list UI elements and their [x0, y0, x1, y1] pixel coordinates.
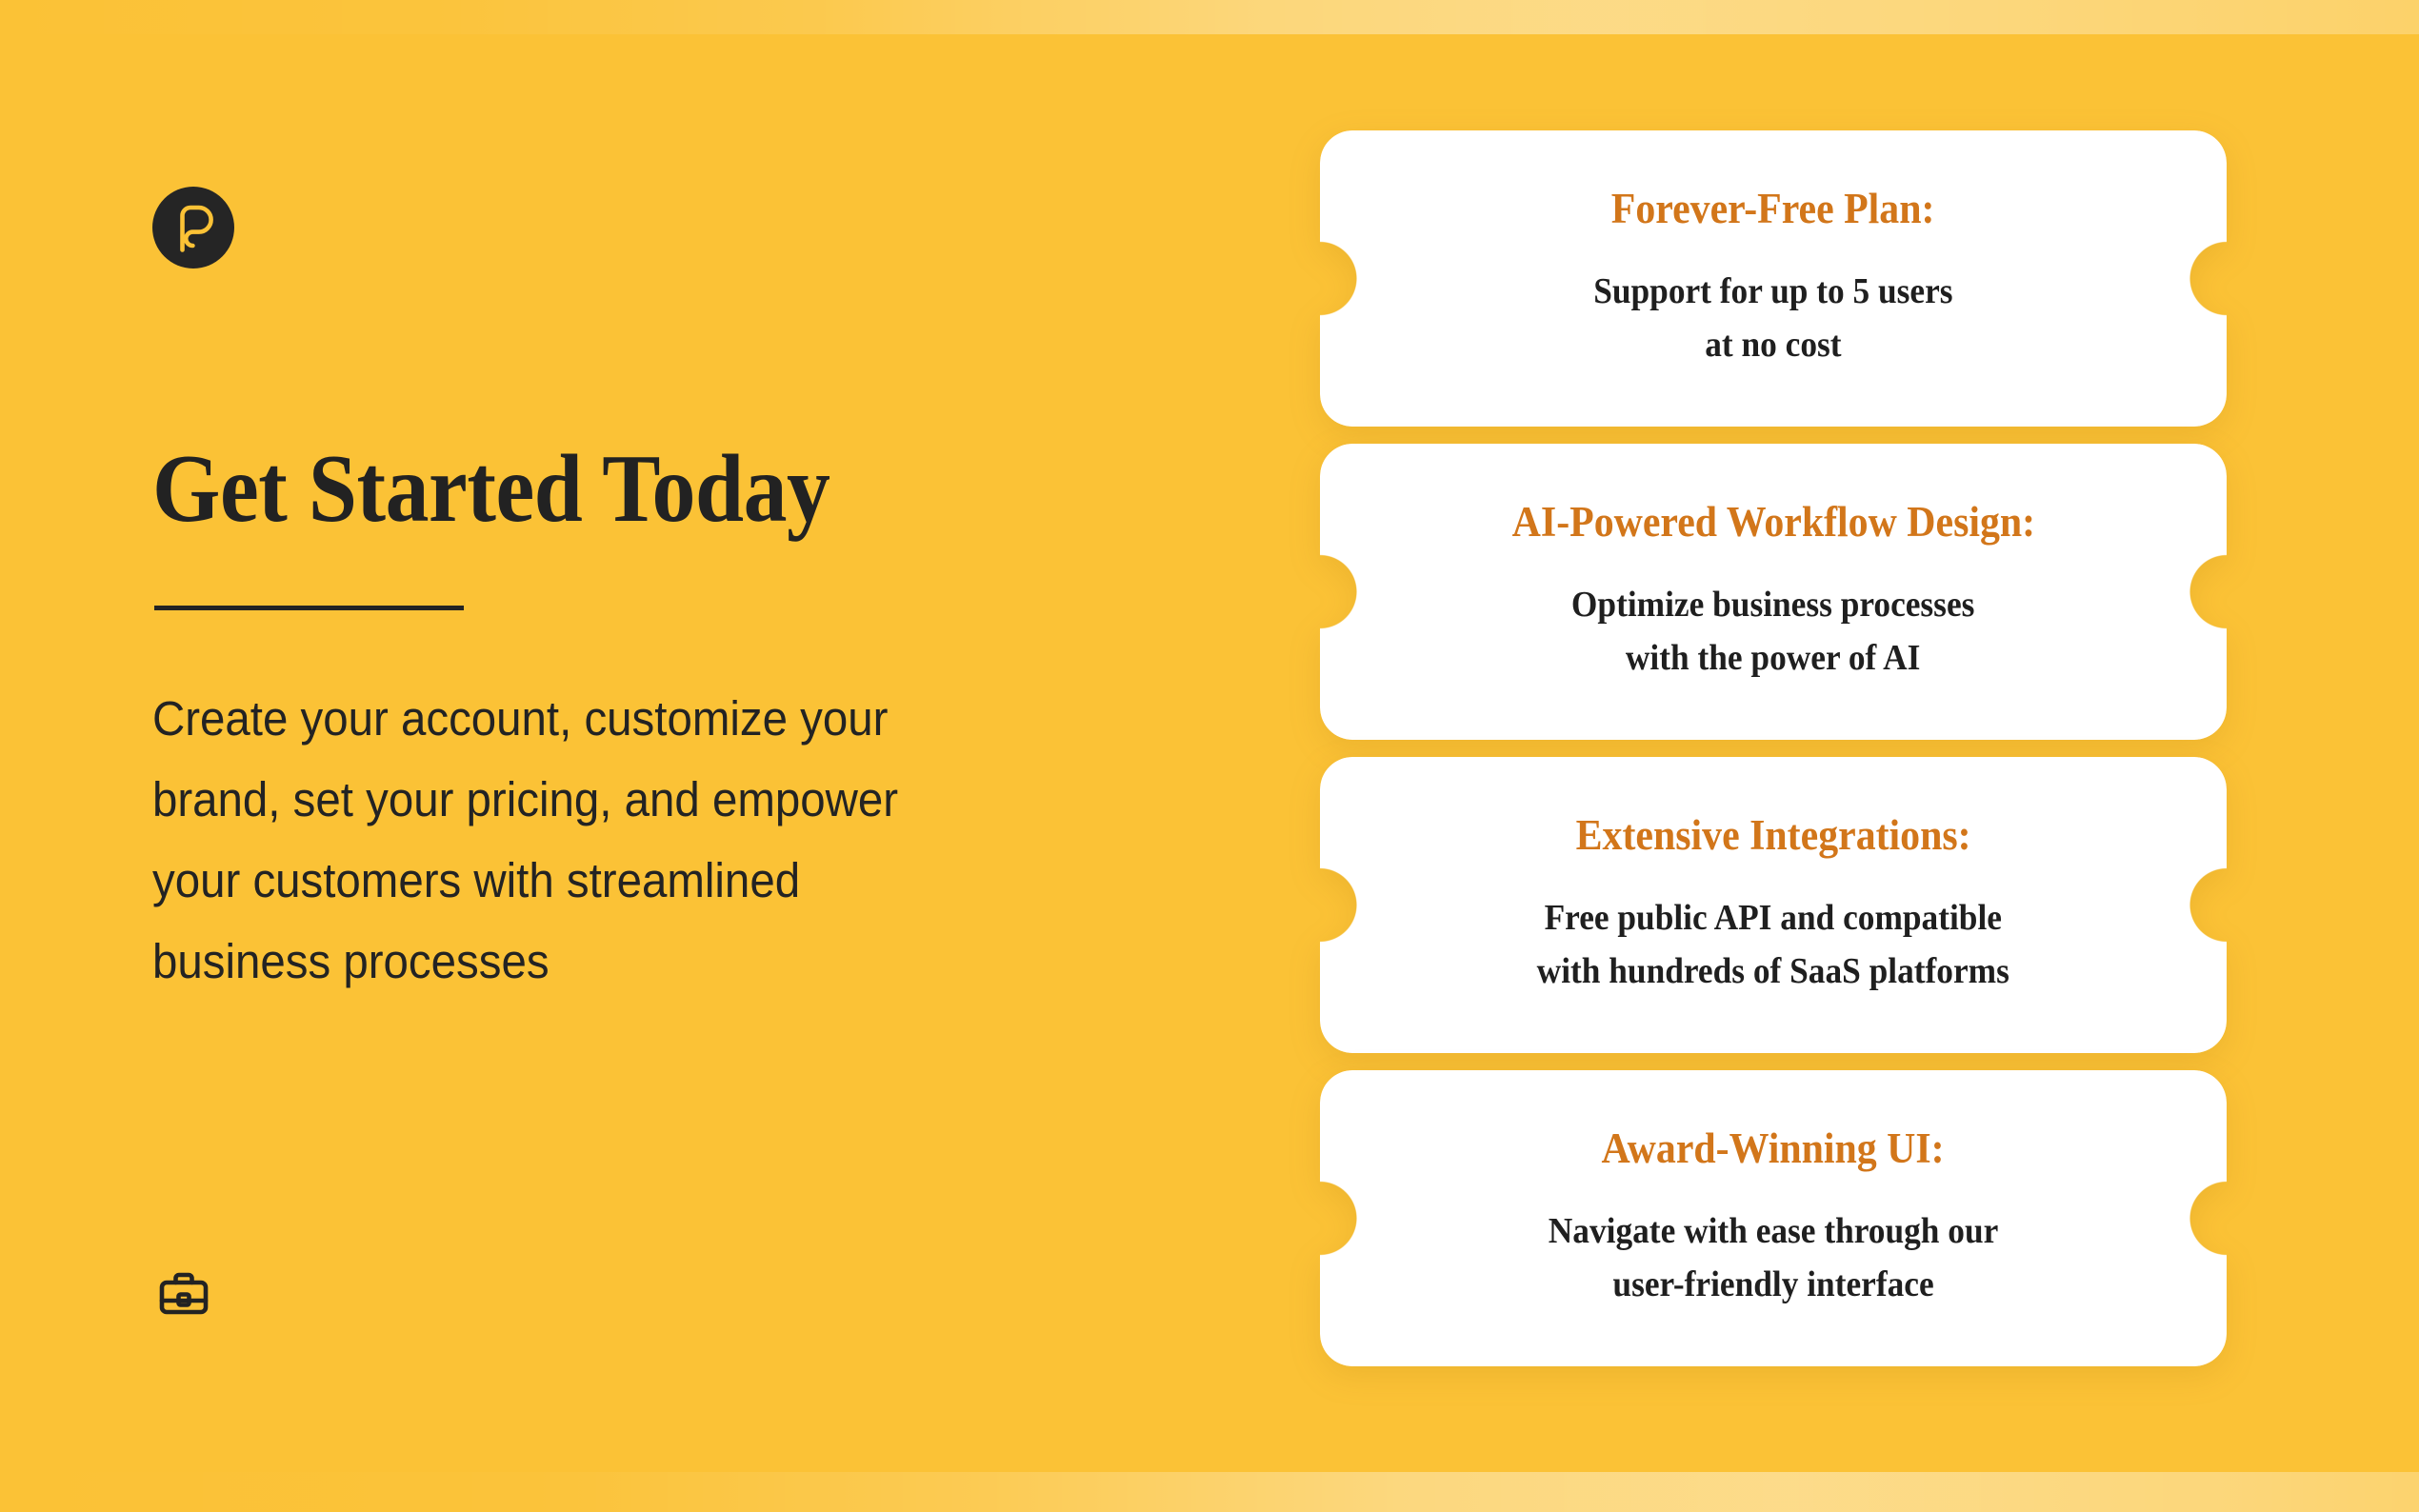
body-copy: Create your account, customize your bran…	[152, 678, 931, 1002]
feature-card-title: Extensive Integrations:	[1575, 812, 1970, 860]
feature-card-title: Forever-Free Plan:	[1611, 186, 1935, 233]
feature-card-description: Navigate with ease through our user-frie…	[1549, 1204, 1999, 1311]
feature-card-description: Optimize business processes with the pow…	[1571, 578, 1974, 685]
feature-card-content: Award-Winning UI: Navigate with ease thr…	[1320, 1070, 2227, 1366]
feature-card-description: Free public API and compatible with hund…	[1537, 891, 2009, 998]
feature-card-title: AI-Powered Workflow Design:	[1511, 499, 2034, 547]
slide-canvas: Get Started Today Create your account, c…	[0, 0, 2419, 1512]
feature-card-content: Forever-Free Plan: Support for up to 5 u…	[1320, 130, 2227, 427]
feature-card-description: Support for up to 5 users at no cost	[1593, 265, 1952, 371]
briefcase-icon	[154, 1264, 213, 1323]
feature-card-content: AI-Powered Workflow Design: Optimize bus…	[1320, 444, 2227, 740]
page-title: Get Started Today	[152, 438, 830, 540]
feature-card-content: Extensive Integrations: Free public API …	[1320, 757, 2227, 1053]
feature-card-title: Award-Winning UI:	[1602, 1125, 1945, 1173]
feature-card[interactable]: Award-Winning UI: Navigate with ease thr…	[1320, 1070, 2227, 1366]
feature-cards-list: Forever-Free Plan: Support for up to 5 u…	[1320, 130, 2227, 1366]
left-content-column: Get Started Today Create your account, c…	[152, 0, 1229, 1512]
title-divider	[154, 606, 464, 610]
feature-card[interactable]: Forever-Free Plan: Support for up to 5 u…	[1320, 130, 2227, 427]
brand-logo-p-icon	[152, 187, 234, 269]
feature-card[interactable]: AI-Powered Workflow Design: Optimize bus…	[1320, 444, 2227, 740]
feature-card[interactable]: Extensive Integrations: Free public API …	[1320, 757, 2227, 1053]
